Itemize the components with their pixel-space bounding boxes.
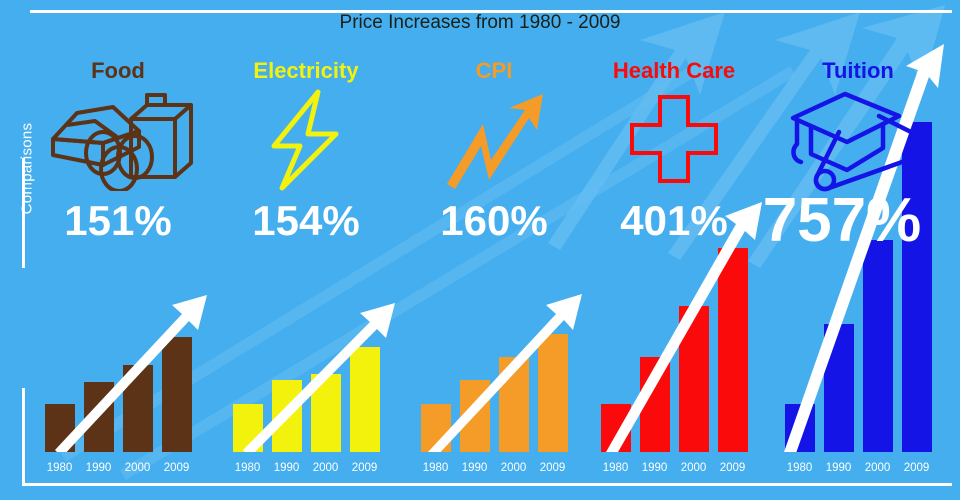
year-label: 2000 bbox=[863, 462, 893, 474]
category-column-cpi: CPI 160% 1980 1990 2000 2009 bbox=[398, 0, 590, 500]
year-label: 1990 bbox=[84, 462, 114, 474]
year-label: 2009 bbox=[538, 462, 568, 474]
year-label: 2000 bbox=[123, 462, 153, 474]
year-label: 1980 bbox=[421, 462, 451, 474]
growth-arrow-food bbox=[22, 162, 214, 452]
growth-arrow-electricity bbox=[210, 162, 402, 452]
year-label: 1980 bbox=[601, 462, 631, 474]
bar-chart-health-care: 1980 1990 2000 2009 bbox=[578, 156, 770, 486]
growth-arrow-health-care bbox=[578, 162, 770, 452]
year-label: 2009 bbox=[350, 462, 380, 474]
year-label: 1990 bbox=[272, 462, 302, 474]
year-label: 1980 bbox=[233, 462, 263, 474]
infographic-canvas: Comparisons Price Increases from 1980 - … bbox=[0, 0, 960, 500]
category-label-cpi: CPI bbox=[398, 58, 590, 84]
category-label-electricity: Electricity bbox=[210, 58, 402, 84]
category-column-health-care: Health Care 401% 1980 1990 2000 2009 bbox=[578, 0, 770, 500]
year-label: 2009 bbox=[718, 462, 748, 474]
category-label-tuition: Tuition bbox=[762, 58, 954, 84]
year-label: 1990 bbox=[640, 462, 670, 474]
graduation-cap-diploma-icon bbox=[762, 88, 954, 193]
year-label: 2000 bbox=[499, 462, 529, 474]
year-label: 1990 bbox=[460, 462, 490, 474]
year-label: 1980 bbox=[785, 462, 815, 474]
category-label-food: Food bbox=[22, 58, 214, 84]
year-label: 2000 bbox=[679, 462, 709, 474]
year-label: 1980 bbox=[45, 462, 75, 474]
bar-chart-cpi: 1980 1990 2000 2009 bbox=[398, 156, 590, 486]
year-label: 2009 bbox=[162, 462, 192, 474]
category-column-food: Food 151% bbox=[22, 0, 214, 500]
category-label-health-care: Health Care bbox=[578, 58, 770, 84]
growth-arrow-cpi bbox=[398, 162, 590, 452]
year-label: 2009 bbox=[902, 462, 932, 474]
year-label: 1990 bbox=[824, 462, 854, 474]
category-column-tuition: 1980 1990 2000 2009 Tuition 757% bbox=[762, 0, 954, 500]
bar-chart-food: 1980 1990 2000 2009 bbox=[22, 156, 214, 486]
year-label: 2000 bbox=[311, 462, 341, 474]
percent-value-tuition: 757% bbox=[746, 190, 938, 252]
category-column-electricity: Electricity 154% 1980 1990 2000 2009 bbox=[210, 0, 402, 500]
bar-chart-electricity: 1980 1990 2000 2009 bbox=[210, 156, 402, 486]
